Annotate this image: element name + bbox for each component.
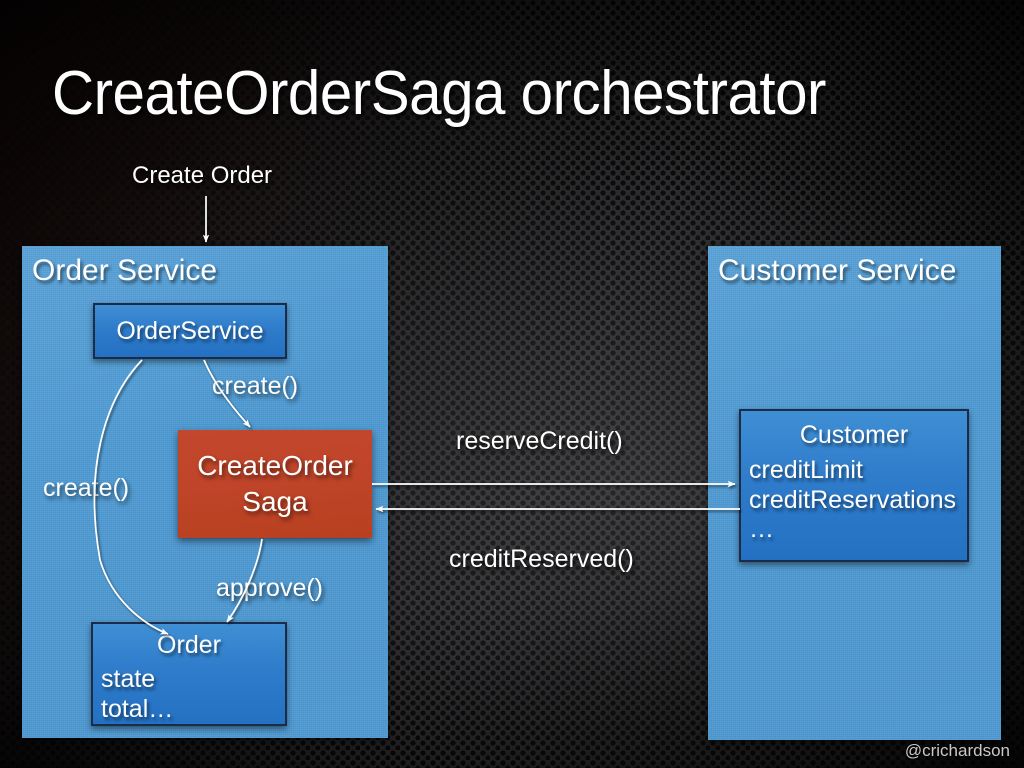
label-create-saga: create() [212, 371, 298, 401]
class-attr-order-state: state [93, 664, 285, 694]
page-title: CreateOrderSaga orchestrator [52, 57, 917, 131]
slide-canvas: CreateOrderSaga orchestrator Create Orde… [0, 0, 1024, 768]
watermark-author: @crichardson [905, 740, 1010, 762]
label-create-order-entity: create() [43, 473, 129, 503]
class-title-order-service: OrderService [95, 305, 285, 357]
class-attr-customer-credit-reservations: creditReservations [741, 485, 967, 515]
label-create-order: Create Order [132, 161, 272, 191]
label-approve: approve() [216, 573, 323, 603]
panel-title-customer-service: Customer Service [718, 252, 956, 290]
class-box-order-service: OrderService [93, 303, 287, 359]
class-attr-order-total: total… [93, 694, 285, 724]
class-box-create-order-saga: CreateOrder Saga [178, 430, 372, 538]
class-box-order: Order state total… [91, 622, 287, 726]
class-title-customer: Customer [741, 415, 967, 455]
class-title-order: Order [93, 626, 285, 664]
label-credit-reserved: creditReserved() [449, 544, 634, 574]
label-reserve-credit: reserveCredit() [456, 426, 623, 456]
class-attr-customer-ellipsis: … [741, 515, 967, 543]
class-box-customer: Customer creditLimit creditReservations … [739, 409, 969, 562]
class-title-create-order-saga: CreateOrder Saga [197, 448, 353, 520]
class-attr-customer-credit-limit: creditLimit [741, 455, 967, 485]
panel-title-order-service: Order Service [32, 252, 217, 290]
